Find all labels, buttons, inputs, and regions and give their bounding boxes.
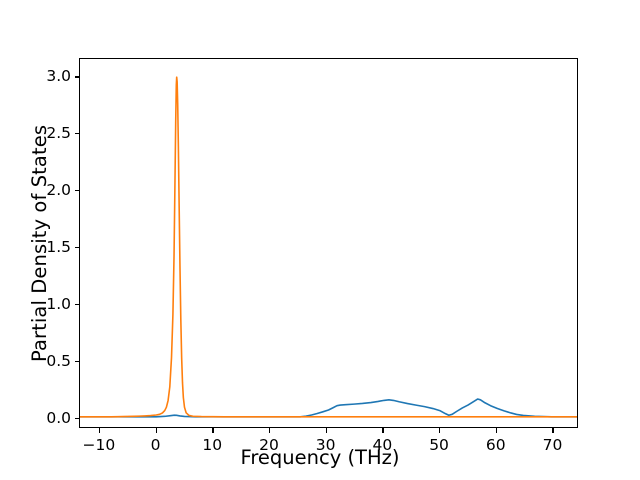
x-tick-mark <box>552 428 553 433</box>
x-tick-mark <box>496 428 497 433</box>
x-tick-mark <box>212 428 213 433</box>
plot-area <box>79 58 578 428</box>
x-tick-mark <box>439 428 440 433</box>
y-tick-label: 0.0 <box>46 409 71 427</box>
x-tick-mark <box>269 428 270 433</box>
plot-lines <box>80 59 577 427</box>
x-tick-mark <box>99 428 100 433</box>
x-tick-mark <box>326 428 327 433</box>
figure-canvas: Partial Density of States 0.00.51.01.52.… <box>0 0 640 480</box>
y-axis-label: Partial Density of States <box>28 124 51 361</box>
series-line-series_2 <box>80 77 577 417</box>
x-tick-mark <box>156 428 157 433</box>
y-tick-label: 3.0 <box>46 67 71 85</box>
series-line-series_1 <box>80 399 577 417</box>
x-axis-label: Frequency (THz) <box>0 446 640 469</box>
x-tick-mark <box>382 428 383 433</box>
